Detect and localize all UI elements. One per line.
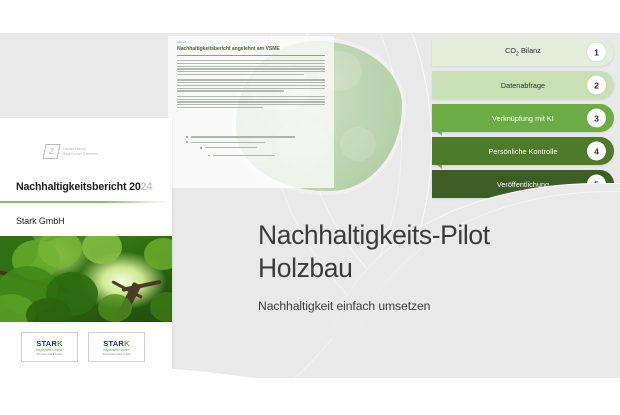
- forest-canopy-photo: [0, 236, 172, 322]
- cover-title: Nachhaltigkeitsbericht 2024: [16, 181, 152, 193]
- stark-logo-1: STARK Inspiration leben. Zimmerei Stark …: [21, 332, 78, 362]
- step-number: 4: [587, 142, 606, 161]
- cover-title-main: Nachhaltigkeitsbericht 20: [16, 181, 141, 193]
- page-subtitle: Nachhaltigkeit einfach umsetzen: [258, 299, 588, 313]
- step-label: Persönliche Kontrolle: [489, 147, 558, 156]
- step-number: 1: [587, 43, 606, 62]
- stark-logo-2: STARK Inspiration leben. Schreinerei Sta…: [88, 332, 145, 362]
- page-title-line2: Holzbau: [258, 253, 352, 283]
- top-white-margin: [0, 0, 620, 33]
- slide-screenshot: Entwurf Nachhaltigkeitsbericht angelehnt…: [0, 0, 620, 415]
- cover-divider: [0, 201, 172, 203]
- report-bullet-list: [186, 136, 316, 160]
- partner-logo-row: STARK Inspiration leben. Zimmerei Stark …: [0, 332, 172, 362]
- headline-block: Nachhaltigkeits-PilotHolzbau Nachhaltigk…: [258, 219, 588, 313]
- step-label: Verknüpfung mit KI: [492, 114, 554, 123]
- step-item-verknuepfung-mit-ki[interactable]: Verknüpfung mit KI 3: [432, 104, 614, 132]
- report-eyebrow: Entwurf: [177, 41, 186, 44]
- zimmerer-logo-icon: Z: [42, 144, 60, 159]
- bottom-white-margin: [0, 378, 620, 415]
- cover-company-name: Stark GmbH: [16, 216, 65, 226]
- guild-logo: Z Landesinnung Bayerischer Zimmerer: [44, 144, 98, 159]
- step-item-datenabfrage[interactable]: Datenabfrage 2: [432, 71, 614, 99]
- sustainability-report-cover[interactable]: Z Landesinnung Bayerischer Zimmerer Nach…: [0, 118, 172, 378]
- step-label: CO2 Bilanz: [505, 46, 541, 57]
- report-heading: Nachhaltigkeitsbericht angelehnt am VSME: [177, 46, 323, 52]
- step-number: 3: [587, 109, 606, 128]
- step-item-co2-bilanz[interactable]: CO2 Bilanz 1: [432, 38, 614, 66]
- report-heading-rule: [177, 55, 325, 56]
- page-title-line1: Nachhaltigkeits-Pilot: [258, 220, 490, 250]
- report-document-preview[interactable]: Entwurf Nachhaltigkeitsbericht angelehnt…: [168, 36, 334, 188]
- step-label: Datenabfrage: [501, 81, 545, 90]
- page-title: Nachhaltigkeits-PilotHolzbau: [258, 219, 588, 285]
- cover-title-year: 24: [141, 181, 152, 193]
- presentation-slide: Entwurf Nachhaltigkeitsbericht angelehnt…: [0, 33, 620, 378]
- report-body-text: [177, 60, 325, 112]
- guild-logo-text: Landesinnung Bayerischer Zimmerer: [63, 147, 98, 156]
- step-number: 2: [587, 76, 606, 95]
- step-item-persoenliche-kontrolle[interactable]: Persönliche Kontrolle 4: [432, 137, 614, 165]
